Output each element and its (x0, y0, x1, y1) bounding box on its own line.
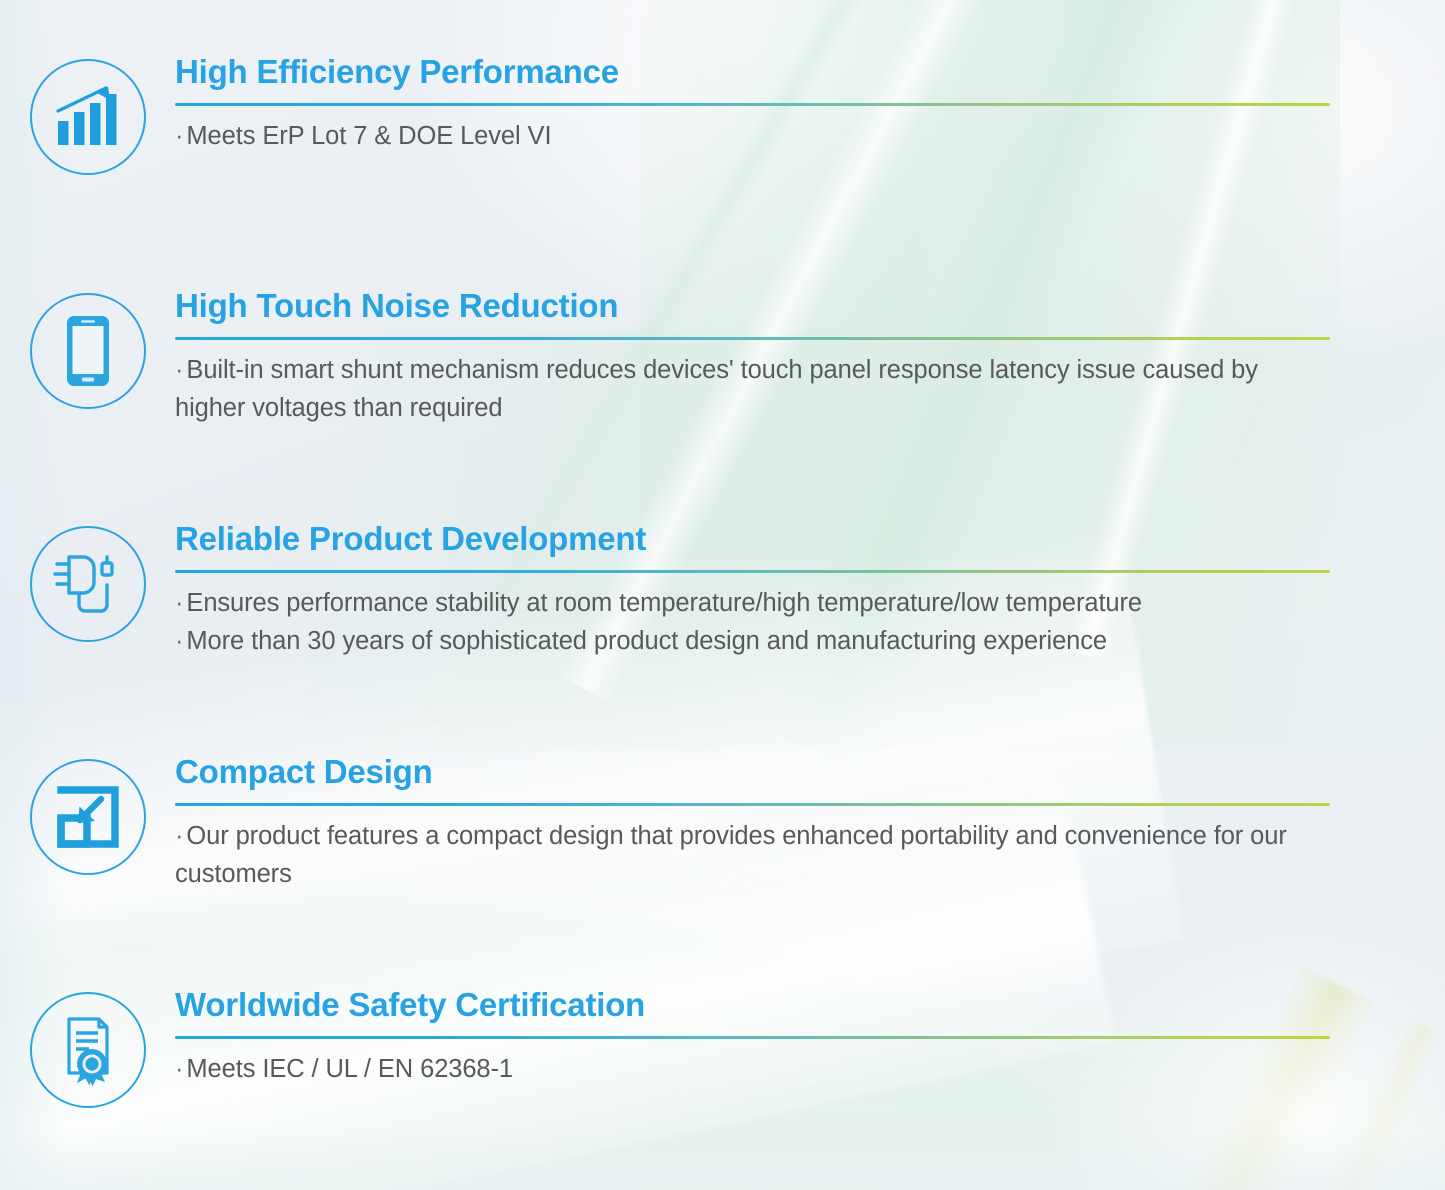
feature-icon-container (0, 753, 175, 875)
bullet-marker: · (175, 1055, 183, 1083)
feature-title: Worldwide Safety Certification (175, 986, 1365, 1025)
bullet-marker: · (175, 822, 183, 850)
bullet-text: Ensures performance stability at room te… (186, 589, 1142, 617)
feature-item-high-touch-noise-reduction: High Touch Noise Reduction ·Built-in sma… (0, 287, 1445, 427)
compact-resize-icon (30, 759, 146, 875)
bullet-text: Meets IEC / UL / EN 62368-1 (186, 1055, 513, 1083)
feature-title: Reliable Product Development (175, 520, 1365, 559)
feature-title: High Efficiency Performance (175, 53, 1365, 92)
feature-text-block: High Efficiency Performance ·Meets ErP L… (175, 53, 1445, 155)
feature-divider-rule (175, 570, 1330, 573)
bullet-marker: · (175, 356, 183, 384)
feature-item-high-efficiency-performance: High Efficiency Performance ·Meets ErP L… (0, 53, 1445, 175)
feature-bullet: ·Ensures performance stability at room t… (175, 584, 1365, 622)
bullet-text: Our product features a compact design th… (175, 822, 1287, 888)
feature-text-block: High Touch Noise Reduction ·Built-in sma… (175, 287, 1445, 427)
feature-bullet: ·Meets IEC / UL / EN 62368-1 (175, 1050, 1365, 1088)
bullet-marker: · (175, 589, 183, 617)
feature-list: High Efficiency Performance ·Meets ErP L… (0, 0, 1445, 1190)
feature-icon-container (0, 287, 175, 409)
feature-text-block: Reliable Product Development ·Ensures pe… (175, 520, 1445, 660)
bullet-text: Built-in smart shunt mechanism reduces d… (175, 356, 1258, 422)
feature-title: Compact Design (175, 753, 1365, 792)
feature-bullet: ·Our product features a compact design t… (175, 817, 1335, 894)
feature-icon-container (0, 986, 175, 1108)
feature-title: High Touch Noise Reduction (175, 287, 1365, 326)
feature-icon-container (0, 53, 175, 175)
power-adapter-icon (30, 526, 146, 642)
feature-divider-rule (175, 1036, 1330, 1039)
bar-chart-growth-icon (30, 59, 146, 175)
bullet-text: More than 30 years of sophisticated prod… (186, 627, 1107, 655)
feature-divider-rule (175, 103, 1330, 106)
feature-divider-rule (175, 337, 1330, 340)
feature-divider-rule (175, 803, 1330, 806)
feature-bullet: ·Meets ErP Lot 7 & DOE Level VI (175, 117, 1365, 155)
feature-bullet: ·Built-in smart shunt mechanism reduces … (175, 351, 1335, 428)
smartphone-icon (30, 293, 146, 409)
feature-item-reliable-product-development: Reliable Product Development ·Ensures pe… (0, 520, 1445, 660)
feature-item-compact-design: Compact Design ·Our product features a c… (0, 753, 1445, 893)
bullet-text: Meets ErP Lot 7 & DOE Level VI (186, 122, 551, 150)
feature-icon-container (0, 520, 175, 642)
bullet-marker: · (175, 627, 183, 655)
feature-text-block: Compact Design ·Our product features a c… (175, 753, 1445, 893)
feature-item-worldwide-safety-certification: Worldwide Safety Certification ·Meets IE… (0, 986, 1445, 1108)
feature-bullet: ·More than 30 years of sophisticated pro… (175, 622, 1365, 660)
certificate-award-icon (30, 992, 146, 1108)
bullet-marker: · (175, 122, 183, 150)
feature-text-block: Worldwide Safety Certification ·Meets IE… (175, 986, 1445, 1088)
